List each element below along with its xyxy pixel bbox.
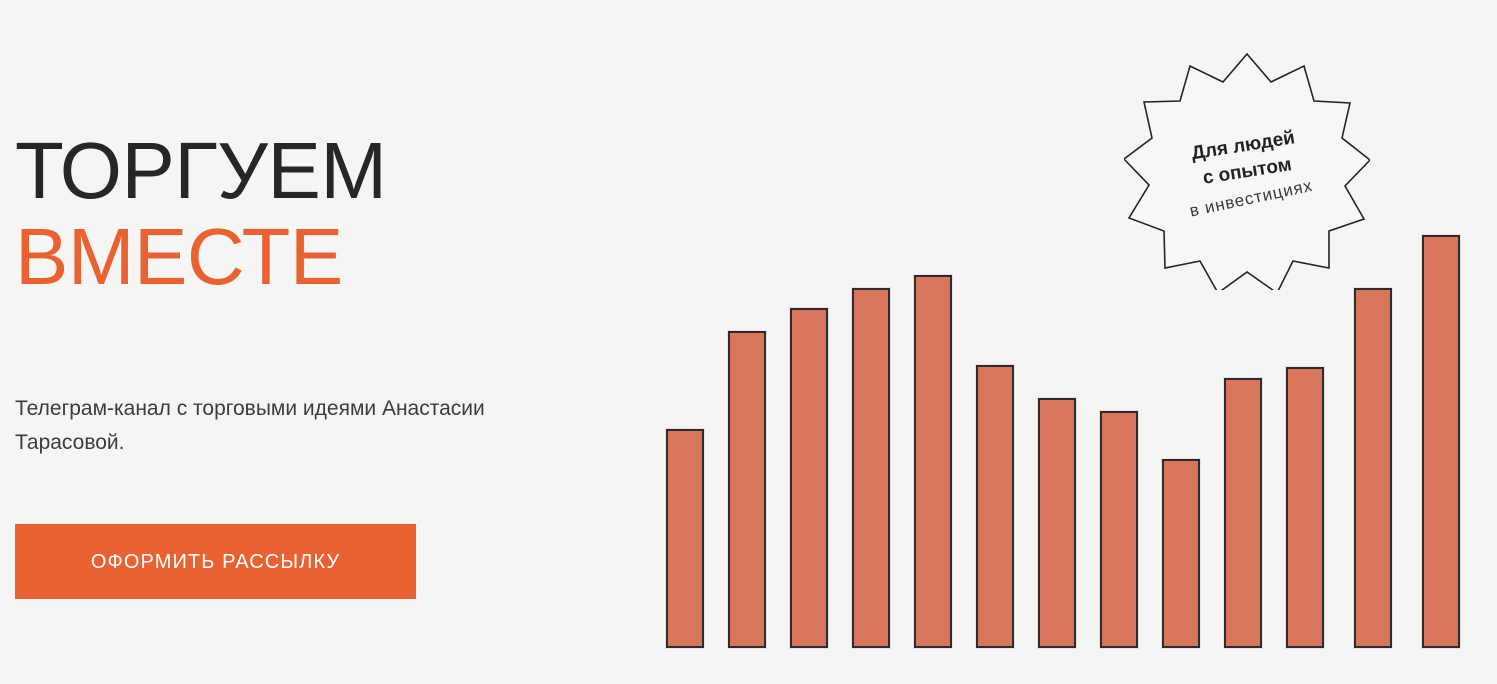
bar-8	[1100, 411, 1138, 648]
bar-5	[914, 275, 952, 648]
hero-left-column: ТОРГУЕМ ВМЕСТЕ Телеграм-канал с торговым…	[15, 0, 575, 684]
bar-10	[1224, 378, 1262, 648]
bar-1	[666, 429, 704, 648]
hero-subtitle: Телеграм-канал с торговыми идеями Анаста…	[15, 392, 485, 460]
bar-13	[1422, 235, 1460, 648]
bar-12	[1354, 288, 1392, 648]
experience-badge: Для людей с опытом в инвестициях	[1124, 50, 1370, 290]
page-title: ТОРГУЕМ ВМЕСТЕ	[15, 128, 387, 300]
hero-section: ТОРГУЕМ ВМЕСТЕ Телеграм-канал с торговым…	[0, 0, 1497, 684]
bar-7	[1038, 398, 1076, 648]
subscribe-button[interactable]: ОФОРМИТЬ РАССЫЛКУ	[15, 524, 416, 599]
bar-6	[976, 365, 1014, 648]
bar-2	[728, 331, 766, 648]
headline-line-1: ТОРГУЕМ	[15, 128, 387, 214]
headline-line-2: ВМЕСТЕ	[15, 214, 387, 300]
bar-3	[790, 308, 828, 648]
bar-9	[1162, 459, 1200, 648]
bar-11	[1286, 367, 1324, 648]
badge-text-block: Для людей с опытом в инвестициях	[1107, 32, 1388, 308]
bar-4	[852, 288, 890, 648]
